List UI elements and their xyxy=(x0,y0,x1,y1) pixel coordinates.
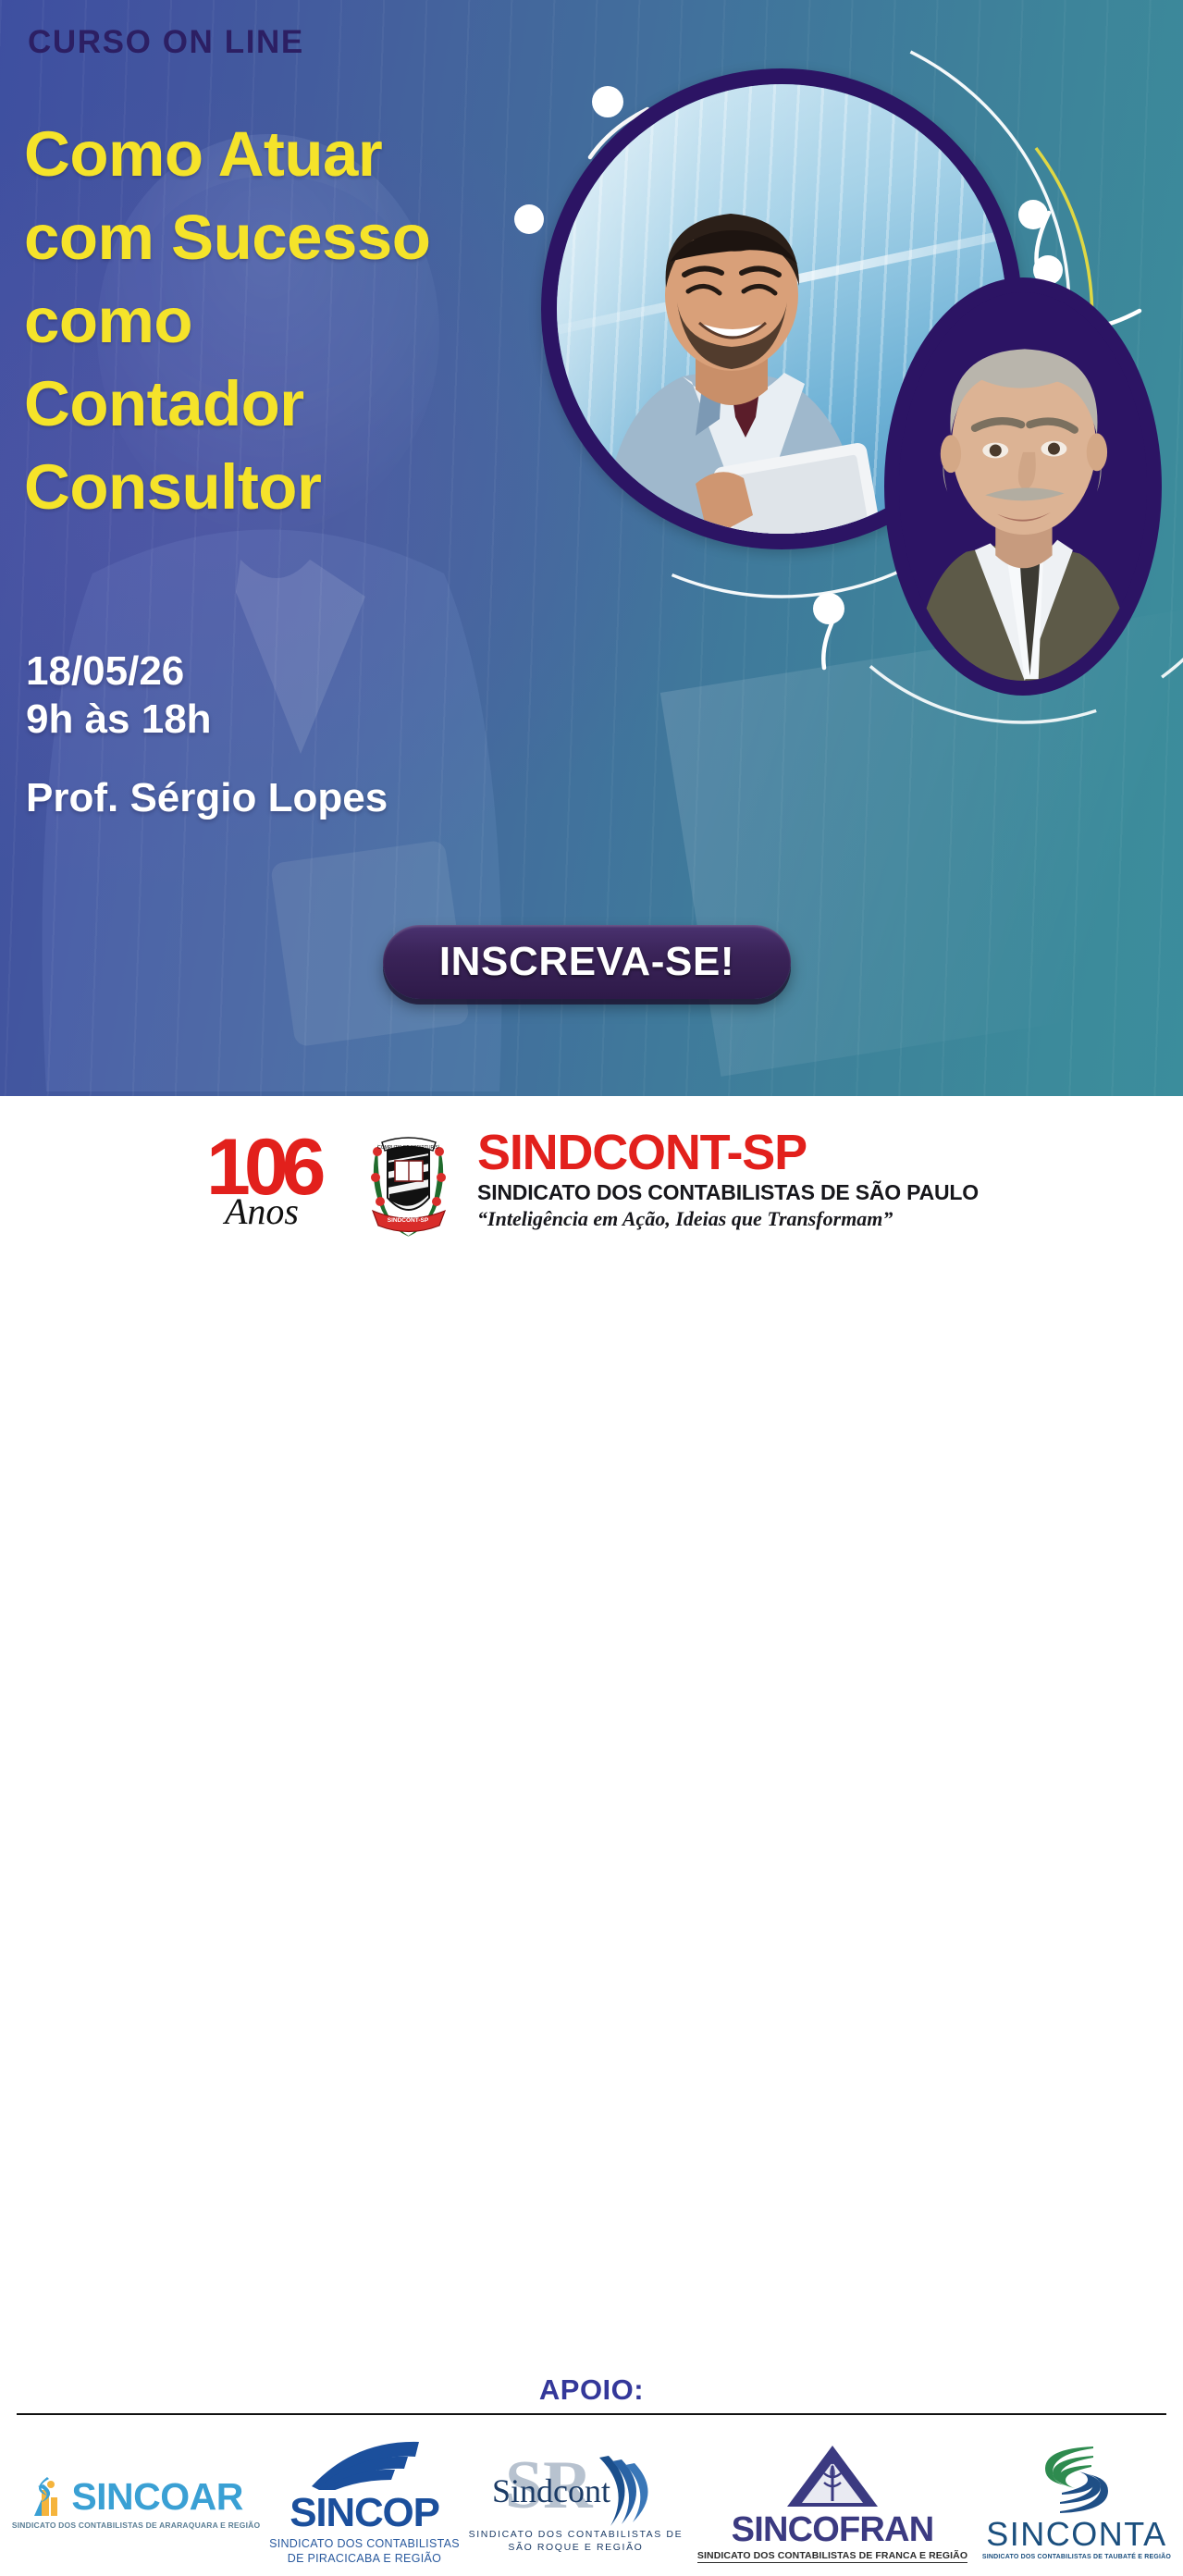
event-datetime: 18/05/26 9h às 18h xyxy=(26,647,212,744)
sincop-swoosh-icon xyxy=(295,2438,434,2490)
headline-line: como xyxy=(24,279,542,363)
brand-row: 106 Anos COMPUTIS ET SCRIPTURIS xyxy=(0,1120,1183,1239)
page-title: Como Atuar com Sucesso como Contador Con… xyxy=(24,113,542,529)
decorative-dot xyxy=(813,593,844,624)
sponsor-subtitle-line1: SINDICATO DOS CONTABILISTAS xyxy=(269,2536,460,2551)
crest-motto: COMPUTIS ET SCRIPTURIS xyxy=(377,1145,438,1151)
sponsor-sincofran[interactable]: SINCOFRAN SINDICATO DOS CONTABILISTAS DE… xyxy=(692,2439,973,2566)
sponsor-subtitle: SINDICATO DOS CONTABILISTAS DE ARARAQUAR… xyxy=(12,2521,260,2530)
sponsor-subtitle-line2: DE PIRACICABA E REGIÃO xyxy=(269,2551,460,2566)
svg-text:Anos: Anos xyxy=(222,1190,299,1232)
photo-speaker-face xyxy=(899,292,1147,681)
sponsor-name: SINCOFRAN xyxy=(732,2510,934,2550)
crest-label: SINDCONT-SP xyxy=(388,1217,429,1224)
sindcont-sr-icon: SR Sindcont xyxy=(481,2450,671,2528)
sponsor-name: Sindcont xyxy=(492,2472,610,2509)
register-button[interactable]: INSCREVA-SE! xyxy=(383,925,791,999)
event-time: 9h às 18h xyxy=(26,696,212,744)
sponsor-logo-row: SINCOAR SINDICATO DOS CONTABILISTAS DE A… xyxy=(0,2428,1183,2576)
kicker-label: CURSO ON LINE xyxy=(28,24,304,61)
sponsor-name: SINCOP xyxy=(290,2490,439,2536)
sponsor-sincoar[interactable]: SINCOAR SINDICATO DOS CONTABILISTAS DE A… xyxy=(12,2475,260,2530)
headline-line: com Sucesso xyxy=(24,196,542,279)
sponsor-subtitle-line1: SINDICATO DOS CONTABILISTAS DE xyxy=(469,2528,684,2541)
sponsor-name: SINCOAR xyxy=(71,2475,243,2519)
apoio-label: APOIO: xyxy=(0,2373,1183,2407)
event-date: 18/05/26 xyxy=(26,647,212,696)
brand-text: SINDCONT-SP SINDICATO DOS CONTABILISTAS … xyxy=(477,1126,979,1233)
sponsor-sindcont-sr[interactable]: SR Sindcont SINDICATO DOS CONTABILISTAS … xyxy=(469,2450,684,2554)
footer-divider xyxy=(17,2413,1166,2415)
sincofran-triangle-icon xyxy=(782,2442,883,2510)
headline-line: Consultor xyxy=(24,446,542,529)
sponsor-sinconta[interactable]: SINCONTA SINDICATO DOS CONTABILISTAS DE … xyxy=(982,2445,1171,2560)
headline-line: Contador xyxy=(24,363,542,446)
sponsor-name: SINCONTA xyxy=(986,2515,1166,2554)
sponsor-sincop[interactable]: SINCOP SINDICATO DOS CONTABILISTAS DE PI… xyxy=(269,2438,460,2566)
footer: 106 Anos COMPUTIS ET SCRIPTURIS xyxy=(0,1096,1183,1480)
sponsor-subtitle: SINDICATO DOS CONTABILISTAS DE TAUBATÉ E… xyxy=(982,2554,1171,2560)
sponsor-subtitle: SINDICATO DOS CONTABILISTAS DE FRANCA E … xyxy=(697,2550,967,2563)
brand-slogan: “Inteligência em Ação, Ideias que Transf… xyxy=(477,1205,979,1233)
speaker-name: Prof. Sérgio Lopes xyxy=(26,775,388,821)
sindcont-crest-icon: COMPUTIS ET SCRIPTURIS SINDCONT-SP xyxy=(360,1120,457,1239)
hero-banner: CURSO ON LINE Como Atuar com Sucesso com… xyxy=(0,0,1183,1096)
decorative-dot xyxy=(1018,200,1048,229)
brand-subtitle: SINDICATO DOS CONTABILISTAS DE SÃO PAULO xyxy=(477,1179,979,1205)
sincoar-mark-icon xyxy=(29,2475,64,2518)
sinconta-s-icon xyxy=(1032,2445,1121,2515)
anniversary-106-anos-icon: 106 Anos xyxy=(204,1124,343,1235)
photo-man-with-tablet xyxy=(585,206,890,539)
brand-name: SINDCONT-SP xyxy=(477,1126,979,1179)
sponsor-subtitle-line2: SÃO ROQUE E REGIÃO xyxy=(469,2541,684,2554)
headline-line: Como Atuar xyxy=(24,113,542,196)
speaker-portrait xyxy=(884,277,1162,696)
